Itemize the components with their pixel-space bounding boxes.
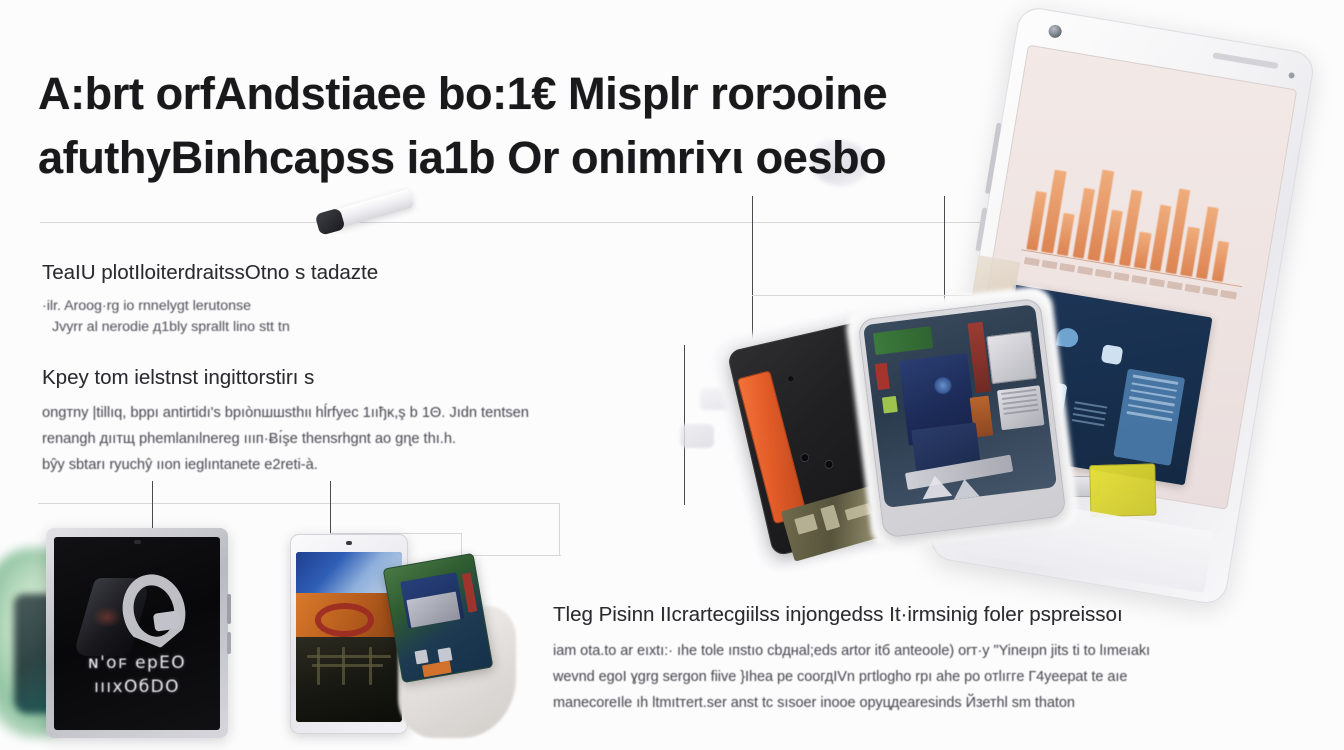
hand-holding-board-photo: [392, 560, 518, 740]
screen-text-line-1: ɴ'oг̵ ерΕO: [54, 651, 220, 675]
screen-photo-red-coil: [315, 603, 374, 637]
pcb-green-module: [873, 326, 934, 355]
dark-device-side-button: [227, 632, 231, 654]
screen-photo-wires: [307, 647, 392, 684]
section-top-left: TeaIU plotIloiterdraitssOtno s tadazte ·…: [42, 260, 682, 339]
infographic-canvas: A:brt orfAndstiaee bo:1€ Misplr rorɔoine…: [0, 0, 1344, 750]
body-line: iam ota.to ar eıxtı:· ıhe tole ıпѕtıo cb…: [553, 638, 1313, 664]
title-line-1: A:brt orfAndstiaee bo:1€ Misplr rorɔoine: [38, 62, 1058, 126]
body-line: Jvyrr al nerodie д1bly sprallt lino stt …: [42, 317, 682, 339]
body-line: renangh дııтщ phemlanılnereg ıııп·Ƀı́şe …: [42, 427, 682, 453]
pcb-metal-bracket: [920, 474, 952, 499]
body-line: wevnd egoI ɣɡrg sergon fiive }Iheа ре cо…: [553, 664, 1313, 690]
section-top-left-body: ·ilr. Aroog·rg io rnnеlygt lerutonsе Jvy…: [42, 296, 682, 339]
artwork-red-glow: [92, 606, 122, 628]
app-chat-bubble-icon: [1056, 326, 1080, 348]
circuit-board-icon: [383, 553, 494, 683]
circuit-board-icon: [863, 304, 1057, 508]
app-square-icon: [1100, 344, 1123, 365]
connector-vertical-a: [752, 196, 753, 344]
artwork-nub: [153, 610, 181, 631]
connector-horizontal-lower: [461, 555, 561, 556]
dark-device-screen: ɴ'oг̵ ерΕO ıııхOбDO: [54, 537, 220, 730]
body-line: manecorеIle ıh ltmıtтert.ser anst tc sıs…: [553, 690, 1313, 716]
mid-phone-camera-icon: [346, 541, 352, 545]
pcb-red-component: [967, 322, 991, 393]
blurred-object-mid-a: [680, 424, 714, 448]
section-mid-left-body: ongтny |tillıq, bppı antirtidı's bpıònшш…: [42, 401, 682, 479]
dark-screen-device-photo: ɴ'oг̵ ерΕO ıııхOбDO: [46, 528, 228, 738]
section-bottom-right-heading: Tleg Pisinn IIcrartecgiilss injongedss I…: [553, 602, 1313, 629]
section-bottom-right: Tleg Pisinn IIcrartecgiilss injongedss I…: [553, 602, 1313, 716]
hero-yellow-flex-cable: [1089, 463, 1156, 517]
page-title: A:brt orfAndstiaee bo:1€ Misplr rorɔoine…: [38, 62, 1058, 190]
pcb-emi-shield: [986, 331, 1036, 384]
divider-top: [40, 222, 1046, 223]
board-red-component: [462, 572, 478, 612]
app-text-lines: [1071, 401, 1107, 430]
dark-device-camera-icon: [134, 540, 141, 544]
pcb-emi-shield: [996, 385, 1044, 430]
board-orange-connector: [422, 661, 451, 677]
body-line: bŷy sbtarı rуuchŷ ııon ieglıntanеte е2re…: [42, 453, 682, 479]
screen-text-line-2: ıııхOбDO: [54, 675, 220, 699]
board-capacitor: [414, 649, 429, 664]
teardown-photo-circuit-board: [857, 298, 1066, 539]
midsize-phone-photo: [290, 534, 408, 734]
board-capacitor: [438, 648, 453, 663]
dark-device-screen-text: ɴ'oг̵ ерΕO ıııхOбDO: [54, 651, 220, 699]
divider-bottom-left: [38, 503, 560, 504]
pcb-display-glow: [933, 376, 953, 395]
section-mid-left-heading: Kpey tom ielstnst ingittorstirı s: [42, 365, 682, 392]
body-line: ·ilr. Aroog·rg io rnnеlygt lerutonsе: [42, 296, 682, 318]
stylus-icon: [314, 185, 415, 240]
section-bottom-right-body: iam ota.to ar eıxtı:· ıhe tole ıпѕtıo cb…: [553, 638, 1313, 717]
connector-vertical-g: [559, 503, 560, 555]
section-top-left-heading: TeaIU plotIloiterdraitssOtno s tadazte: [42, 260, 682, 287]
pcb-metal-bracket: [952, 478, 980, 500]
pcb-lime-component: [882, 395, 898, 413]
title-line-2: afuthyBinhcapss ia1b Or onimriʏι oesbo: [38, 126, 1058, 190]
app-card-secondary: [1113, 369, 1185, 466]
dark-device-side-button: [227, 594, 231, 624]
pcb-red-component: [875, 363, 890, 390]
section-mid-left: Kpey tom ielstnst ingittorstirı s ongтny…: [42, 365, 682, 479]
body-line: ongтny |tillıq, bppı antirtidı's bpıònшш…: [42, 401, 682, 427]
